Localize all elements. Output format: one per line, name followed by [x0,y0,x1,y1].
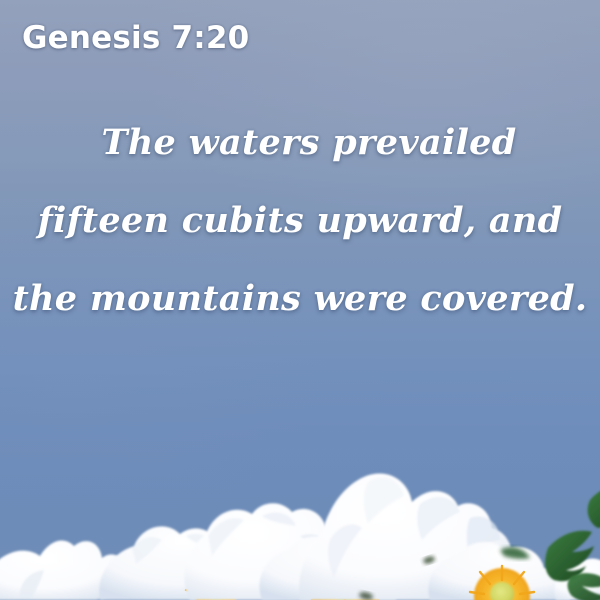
verse-line: fifteen cubits upward, and [0,182,600,260]
flower-photo-region [0,400,600,600]
verse-image: Genesis 7:20 The waters prevailed fiftee… [0,0,600,600]
verse-line: The waters prevailed [0,104,600,182]
scripture-reference: Genesis 7:20 [22,20,249,56]
leaf-top-right [588,487,600,529]
flower-center [470,566,534,600]
verse-line: the mountains were covered. [0,260,600,338]
verse-text-block: The waters prevailed fifteen cubits upwa… [0,104,600,338]
flowers-illustration [0,400,600,600]
